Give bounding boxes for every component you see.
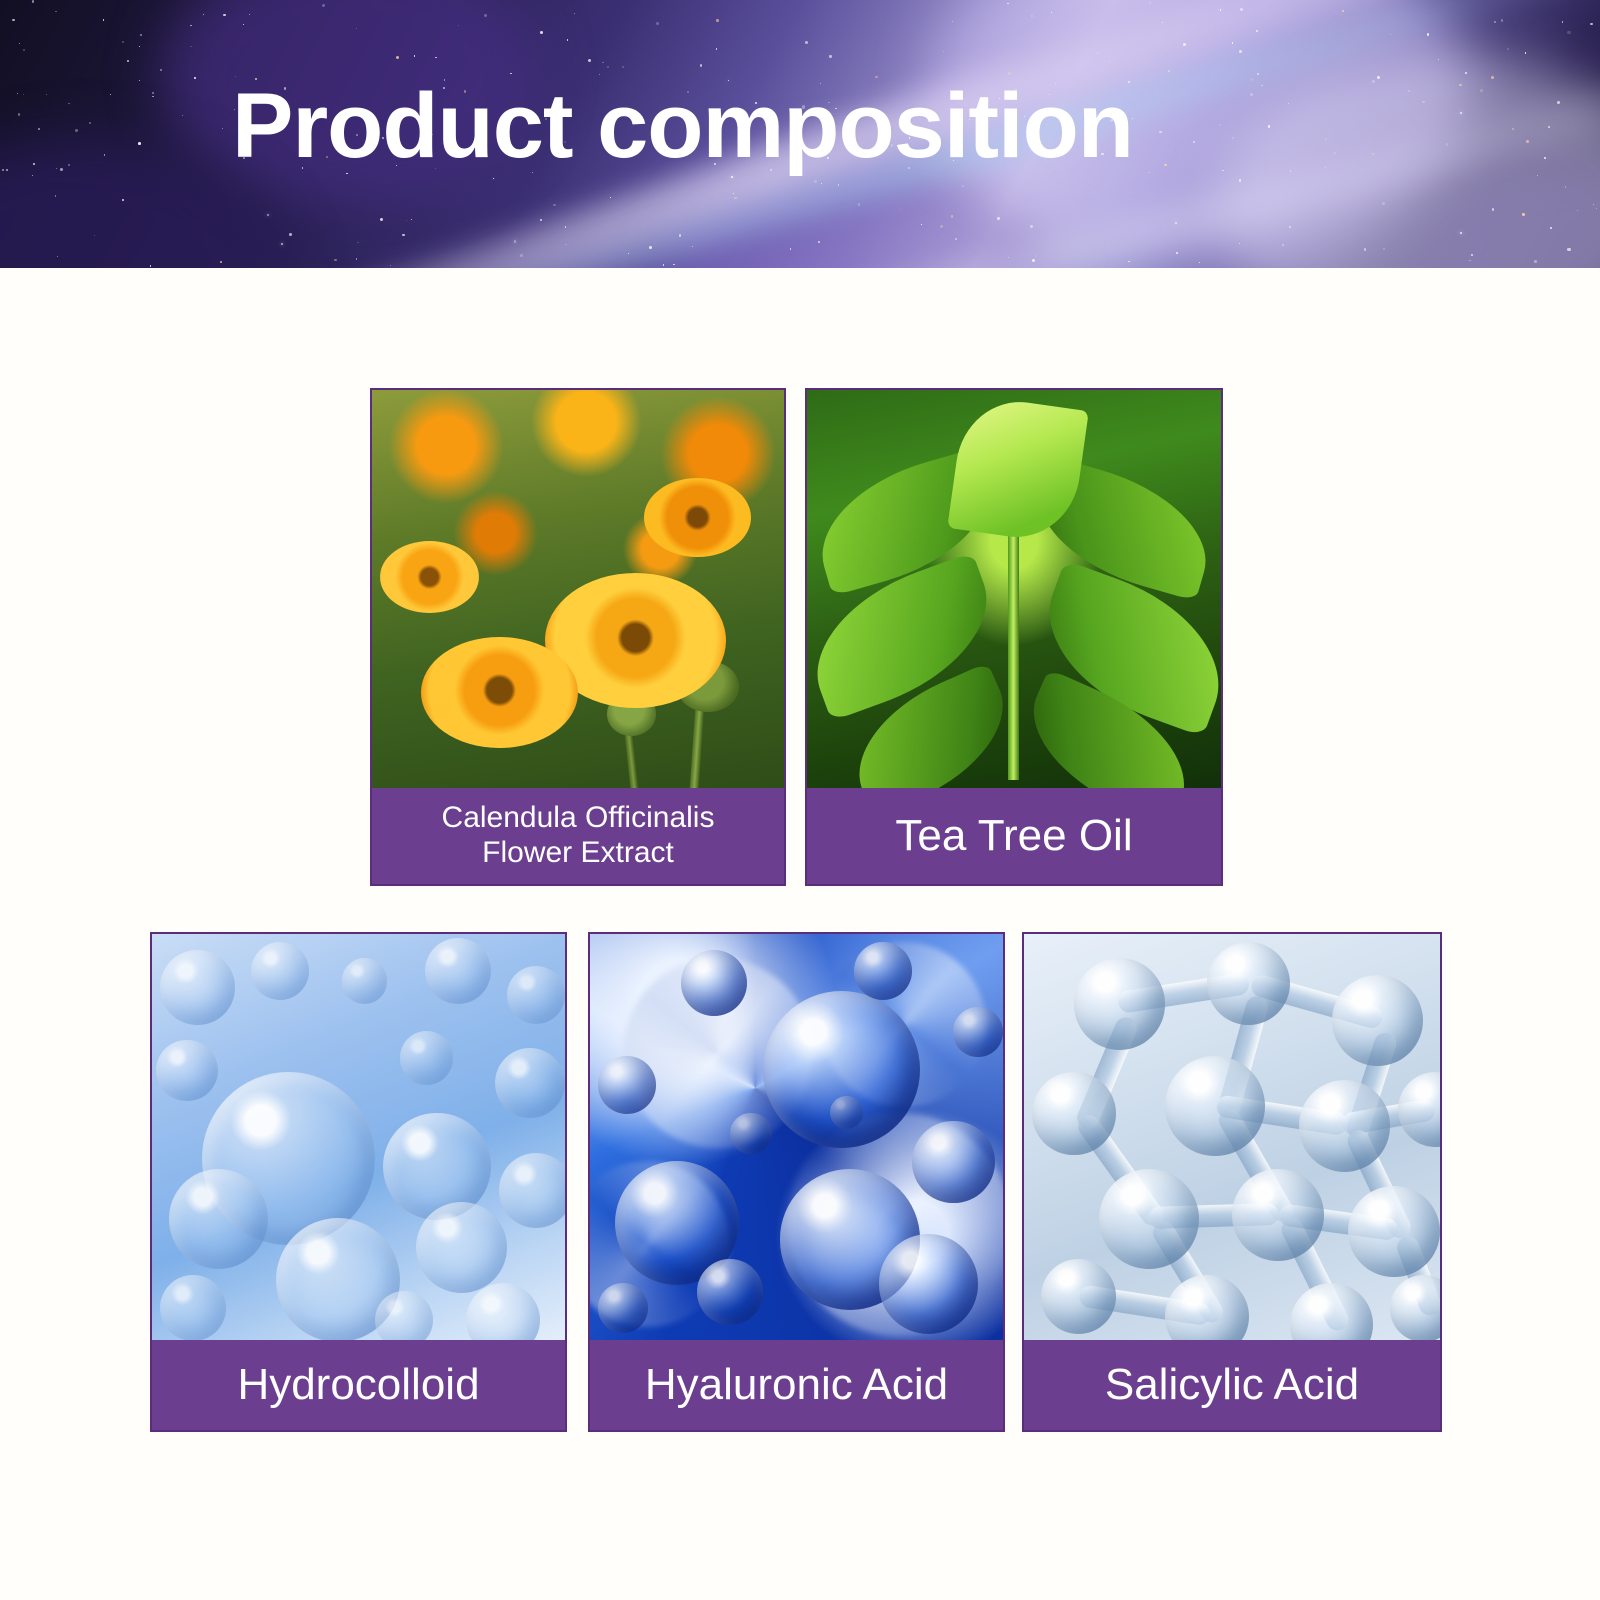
- calendula-flower-icon: [421, 637, 578, 748]
- star: [414, 55, 415, 56]
- star: [1032, 259, 1034, 261]
- star: [1596, 208, 1597, 209]
- ingredient-label-calendula: Calendula Officinalis Flower Extract: [372, 788, 784, 884]
- star: [322, 4, 325, 7]
- star: [1257, 73, 1259, 75]
- star: [1176, 252, 1178, 254]
- star: [2, 169, 4, 171]
- star: [1007, 3, 1008, 4]
- star: [220, 261, 222, 263]
- star: [152, 96, 153, 97]
- star: [493, 178, 494, 179]
- star: [222, 128, 223, 129]
- star: [649, 246, 652, 249]
- star: [1245, 212, 1246, 213]
- star: [1525, 52, 1526, 53]
- star: [110, 94, 111, 95]
- star: [1256, 30, 1258, 32]
- star: [1501, 19, 1503, 21]
- star: [1239, 50, 1242, 53]
- star: [356, 28, 357, 29]
- star: [1512, 128, 1514, 130]
- calendula-flower-icon: [644, 478, 751, 558]
- star: [23, 49, 25, 51]
- star: [997, 217, 1000, 220]
- star: [790, 248, 791, 249]
- star: [1507, 48, 1509, 50]
- gel-bubble: [342, 958, 387, 1003]
- star: [588, 59, 591, 62]
- star: [38, 128, 40, 130]
- star: [962, 185, 965, 188]
- star: [1031, 15, 1033, 17]
- molecule-sphere: [1348, 1186, 1440, 1278]
- ingredient-image-hydrocolloid: [152, 934, 565, 1340]
- star: [565, 226, 567, 228]
- star: [952, 21, 953, 22]
- star: [610, 197, 611, 198]
- star: [940, 225, 943, 228]
- star: [17, 93, 18, 94]
- star: [716, 19, 718, 21]
- star: [94, 235, 95, 236]
- star: [700, 64, 703, 67]
- star: [1565, 186, 1567, 188]
- star: [139, 46, 140, 47]
- star: [1149, 2, 1151, 4]
- star: [514, 240, 516, 242]
- star: [829, 55, 831, 57]
- star: [203, 14, 204, 15]
- star: [396, 56, 399, 59]
- star: [1567, 248, 1570, 251]
- star: [565, 244, 566, 245]
- star: [1364, 248, 1366, 250]
- molecule-sphere: [1398, 1072, 1440, 1147]
- calendula-flower-icon: [380, 541, 479, 613]
- star: [1289, 226, 1290, 227]
- star: [289, 233, 292, 236]
- liquid-bubble: [598, 1056, 656, 1114]
- star: [1522, 213, 1525, 216]
- star: [716, 48, 718, 50]
- star: [1537, 175, 1539, 177]
- star: [122, 199, 124, 201]
- star: [1342, 10, 1344, 12]
- star: [1577, 210, 1578, 211]
- star: [484, 14, 487, 17]
- star: [6, 169, 8, 171]
- star: [540, 31, 543, 34]
- star: [18, 113, 20, 115]
- molecule-sphere: [1232, 1169, 1324, 1261]
- star: [628, 253, 629, 254]
- liquid-bubble: [598, 1283, 648, 1333]
- star: [75, 129, 78, 132]
- star: [411, 219, 412, 220]
- gel-bubble: [499, 1153, 565, 1227]
- star: [23, 94, 24, 95]
- star: [622, 66, 625, 69]
- ingredient-image-calendula: [372, 390, 784, 788]
- star: [607, 66, 609, 68]
- gel-bubble: [169, 1169, 268, 1268]
- star: [1544, 157, 1546, 159]
- gel-bubble: [375, 1291, 433, 1340]
- star: [1550, 227, 1552, 229]
- star: [402, 234, 405, 237]
- star: [127, 60, 129, 62]
- star: [190, 25, 192, 27]
- star: [955, 238, 958, 241]
- star: [182, 115, 183, 116]
- ingredient-label-text: Salicylic Acid: [1105, 1359, 1359, 1410]
- star: [55, 11, 57, 13]
- gel-bubble: [160, 950, 234, 1024]
- star: [32, 0, 34, 2]
- star: [435, 57, 437, 59]
- star: [139, 80, 140, 81]
- star: [821, 183, 822, 184]
- star: [1240, 8, 1243, 11]
- star: [56, 168, 57, 169]
- star: [1562, 21, 1564, 23]
- star: [223, 14, 225, 16]
- ingredient-label-hydrocolloid: Hydrocolloid: [152, 1340, 565, 1430]
- star: [1183, 43, 1186, 46]
- star: [1097, 52, 1099, 54]
- page-title: Product composition: [232, 78, 1432, 175]
- liquid-bubble: [912, 1121, 995, 1204]
- star: [406, 220, 407, 221]
- star: [1128, 261, 1129, 262]
- star: [1526, 140, 1529, 143]
- star: [1534, 260, 1537, 263]
- molecule-sphere: [1332, 975, 1424, 1067]
- star: [267, 214, 269, 216]
- star: [68, 164, 70, 166]
- star: [567, 39, 569, 41]
- star: [46, 94, 47, 95]
- star: [390, 265, 391, 266]
- star: [858, 203, 861, 206]
- star: [356, 258, 357, 259]
- gel-bubble: [156, 1040, 218, 1102]
- molecule-sphere: [1390, 1275, 1440, 1340]
- star: [1567, 31, 1570, 34]
- liquid-bubble: [730, 1113, 771, 1154]
- star: [57, 256, 58, 257]
- star: [1469, 260, 1471, 262]
- star: [943, 51, 944, 52]
- star: [32, 175, 33, 176]
- gel-bubble: [495, 1048, 565, 1118]
- star: [663, 264, 664, 265]
- star: [818, 241, 820, 243]
- star: [574, 13, 575, 14]
- ingredient-card-calendula[interactable]: Calendula Officinalis Flower Extract: [370, 388, 786, 886]
- star: [1051, 12, 1052, 13]
- star: [152, 92, 154, 94]
- liquid-bubble: [681, 950, 747, 1016]
- star: [138, 142, 141, 145]
- star: [122, 41, 124, 43]
- star: [1175, 222, 1177, 224]
- hyaluronic-acid-bubbles-art: [590, 934, 1003, 1340]
- molecule-sphere: [1207, 942, 1290, 1025]
- star: [553, 204, 556, 207]
- label-line-1: Calendula Officinalis: [442, 801, 715, 834]
- liquid-bubble: [697, 1259, 763, 1325]
- header-banner: Product composition: [0, 0, 1600, 268]
- star: [679, 234, 682, 237]
- star: [900, 209, 901, 210]
- molecule-sphere: [1032, 1072, 1115, 1155]
- star: [19, 43, 20, 44]
- star: [1199, 262, 1200, 263]
- ingredient-label-salicylic-acid: Salicylic Acid: [1024, 1340, 1440, 1430]
- star: [1390, 34, 1391, 35]
- star: [1590, 23, 1593, 26]
- star: [249, 14, 250, 15]
- star: [1557, 101, 1560, 104]
- star: [814, 180, 817, 183]
- star: [243, 24, 244, 25]
- salicylic-acid-molecule-art: [1024, 934, 1440, 1340]
- molecule-sphere: [1074, 958, 1166, 1050]
- molecule-sphere: [1041, 1259, 1116, 1334]
- ingredient-card-salicylic-acid[interactable]: Salicylic Acid: [1022, 932, 1442, 1432]
- star: [1471, 254, 1473, 256]
- liquid-bubble: [854, 942, 912, 1000]
- calendula-flower-field-art: [372, 390, 784, 788]
- tea-tree-leaves-art: [807, 390, 1221, 788]
- star: [838, 184, 839, 185]
- star: [1239, 179, 1242, 182]
- star: [103, 19, 105, 21]
- star: [104, 154, 105, 155]
- star: [334, 259, 337, 262]
- star: [1446, 143, 1448, 145]
- star: [921, 224, 922, 225]
- gel-bubble: [425, 938, 491, 1004]
- star: [1282, 244, 1284, 246]
- star: [1168, 70, 1170, 72]
- star: [1109, 61, 1110, 62]
- star: [520, 254, 523, 257]
- star: [1232, 42, 1233, 43]
- ingredient-label-text: Tea Tree Oil: [895, 810, 1132, 861]
- star: [1593, 204, 1595, 206]
- star: [89, 122, 91, 124]
- star: [510, 73, 511, 74]
- star: [140, 34, 142, 36]
- star: [357, 242, 359, 244]
- gel-bubble: [507, 966, 565, 1024]
- star: [160, 69, 162, 71]
- star: [194, 77, 196, 79]
- star: [1030, 225, 1033, 228]
- star: [1465, 72, 1467, 74]
- ingredient-card-tea-tree[interactable]: Tea Tree Oil: [805, 388, 1223, 886]
- ingredient-card-hyaluronic-acid[interactable]: Hyaluronic Acid: [588, 932, 1005, 1432]
- star: [951, 215, 953, 217]
- ingredient-card-hydrocolloid[interactable]: Hydrocolloid: [150, 932, 567, 1432]
- star: [60, 168, 63, 171]
- star: [380, 218, 382, 220]
- liquid-bubble: [830, 1096, 863, 1129]
- ingredient-image-salicylic-acid: [1024, 934, 1440, 1340]
- star: [733, 193, 734, 194]
- star: [1460, 112, 1462, 114]
- star: [1492, 208, 1494, 210]
- molecule-sphere: [1099, 1169, 1199, 1269]
- molecule-sphere: [1299, 1080, 1391, 1172]
- star: [150, 265, 151, 266]
- star: [1383, 248, 1385, 250]
- star: [656, 22, 659, 25]
- star: [281, 243, 282, 244]
- star: [673, 264, 675, 266]
- gel-bubble: [416, 1202, 507, 1293]
- star: [190, 46, 192, 48]
- label-line-2: Flower Extract: [482, 836, 674, 869]
- star: [692, 246, 693, 247]
- gel-bubble: [160, 1275, 226, 1340]
- star: [1008, 257, 1009, 258]
- star: [1494, 21, 1496, 23]
- star: [1548, 126, 1550, 128]
- star: [12, 19, 15, 22]
- star: [1438, 59, 1440, 61]
- hydrocolloid-bubbles-art: [152, 934, 565, 1340]
- gel-bubble: [466, 1283, 540, 1340]
- ingredient-label-text: Hydrocolloid: [237, 1359, 479, 1410]
- gel-bubble: [251, 942, 309, 1000]
- molecule-sphere: [1165, 1275, 1248, 1340]
- ingredient-label-text: Calendula Officinalis Flower Extract: [442, 801, 715, 871]
- star: [1239, 243, 1241, 245]
- ingredient-image-tea-tree: [807, 390, 1221, 788]
- liquid-bubble: [879, 1234, 978, 1333]
- star: [55, 195, 56, 196]
- liquid-bubble: [953, 1007, 1003, 1057]
- star: [1460, 232, 1462, 234]
- star: [33, 163, 35, 165]
- molecule-sphere: [1165, 1056, 1265, 1156]
- star: [1459, 84, 1462, 87]
- molecule-sphere: [1290, 1283, 1373, 1340]
- ingredient-label-hyaluronic-acid: Hyaluronic Acid: [590, 1340, 1003, 1430]
- star: [1162, 22, 1163, 23]
- star: [734, 197, 736, 199]
- product-composition-page: Product composition Calendula Officinali…: [0, 0, 1600, 1600]
- star: [602, 62, 604, 64]
- ingredient-label-tea-tree: Tea Tree Oil: [807, 788, 1221, 884]
- star: [1382, 202, 1385, 205]
- star: [1480, 89, 1483, 92]
- star: [805, 41, 808, 44]
- star: [1220, 9, 1221, 10]
- gel-bubble: [400, 1031, 454, 1085]
- star: [68, 103, 69, 104]
- star: [1491, 76, 1494, 79]
- star: [1035, 255, 1037, 257]
- ingredient-label-text: Hyaluronic Acid: [645, 1359, 948, 1410]
- star: [458, 25, 459, 26]
- ingredient-image-hyaluronic-acid: [590, 934, 1003, 1340]
- star: [1427, 33, 1429, 35]
- star: [540, 219, 542, 221]
